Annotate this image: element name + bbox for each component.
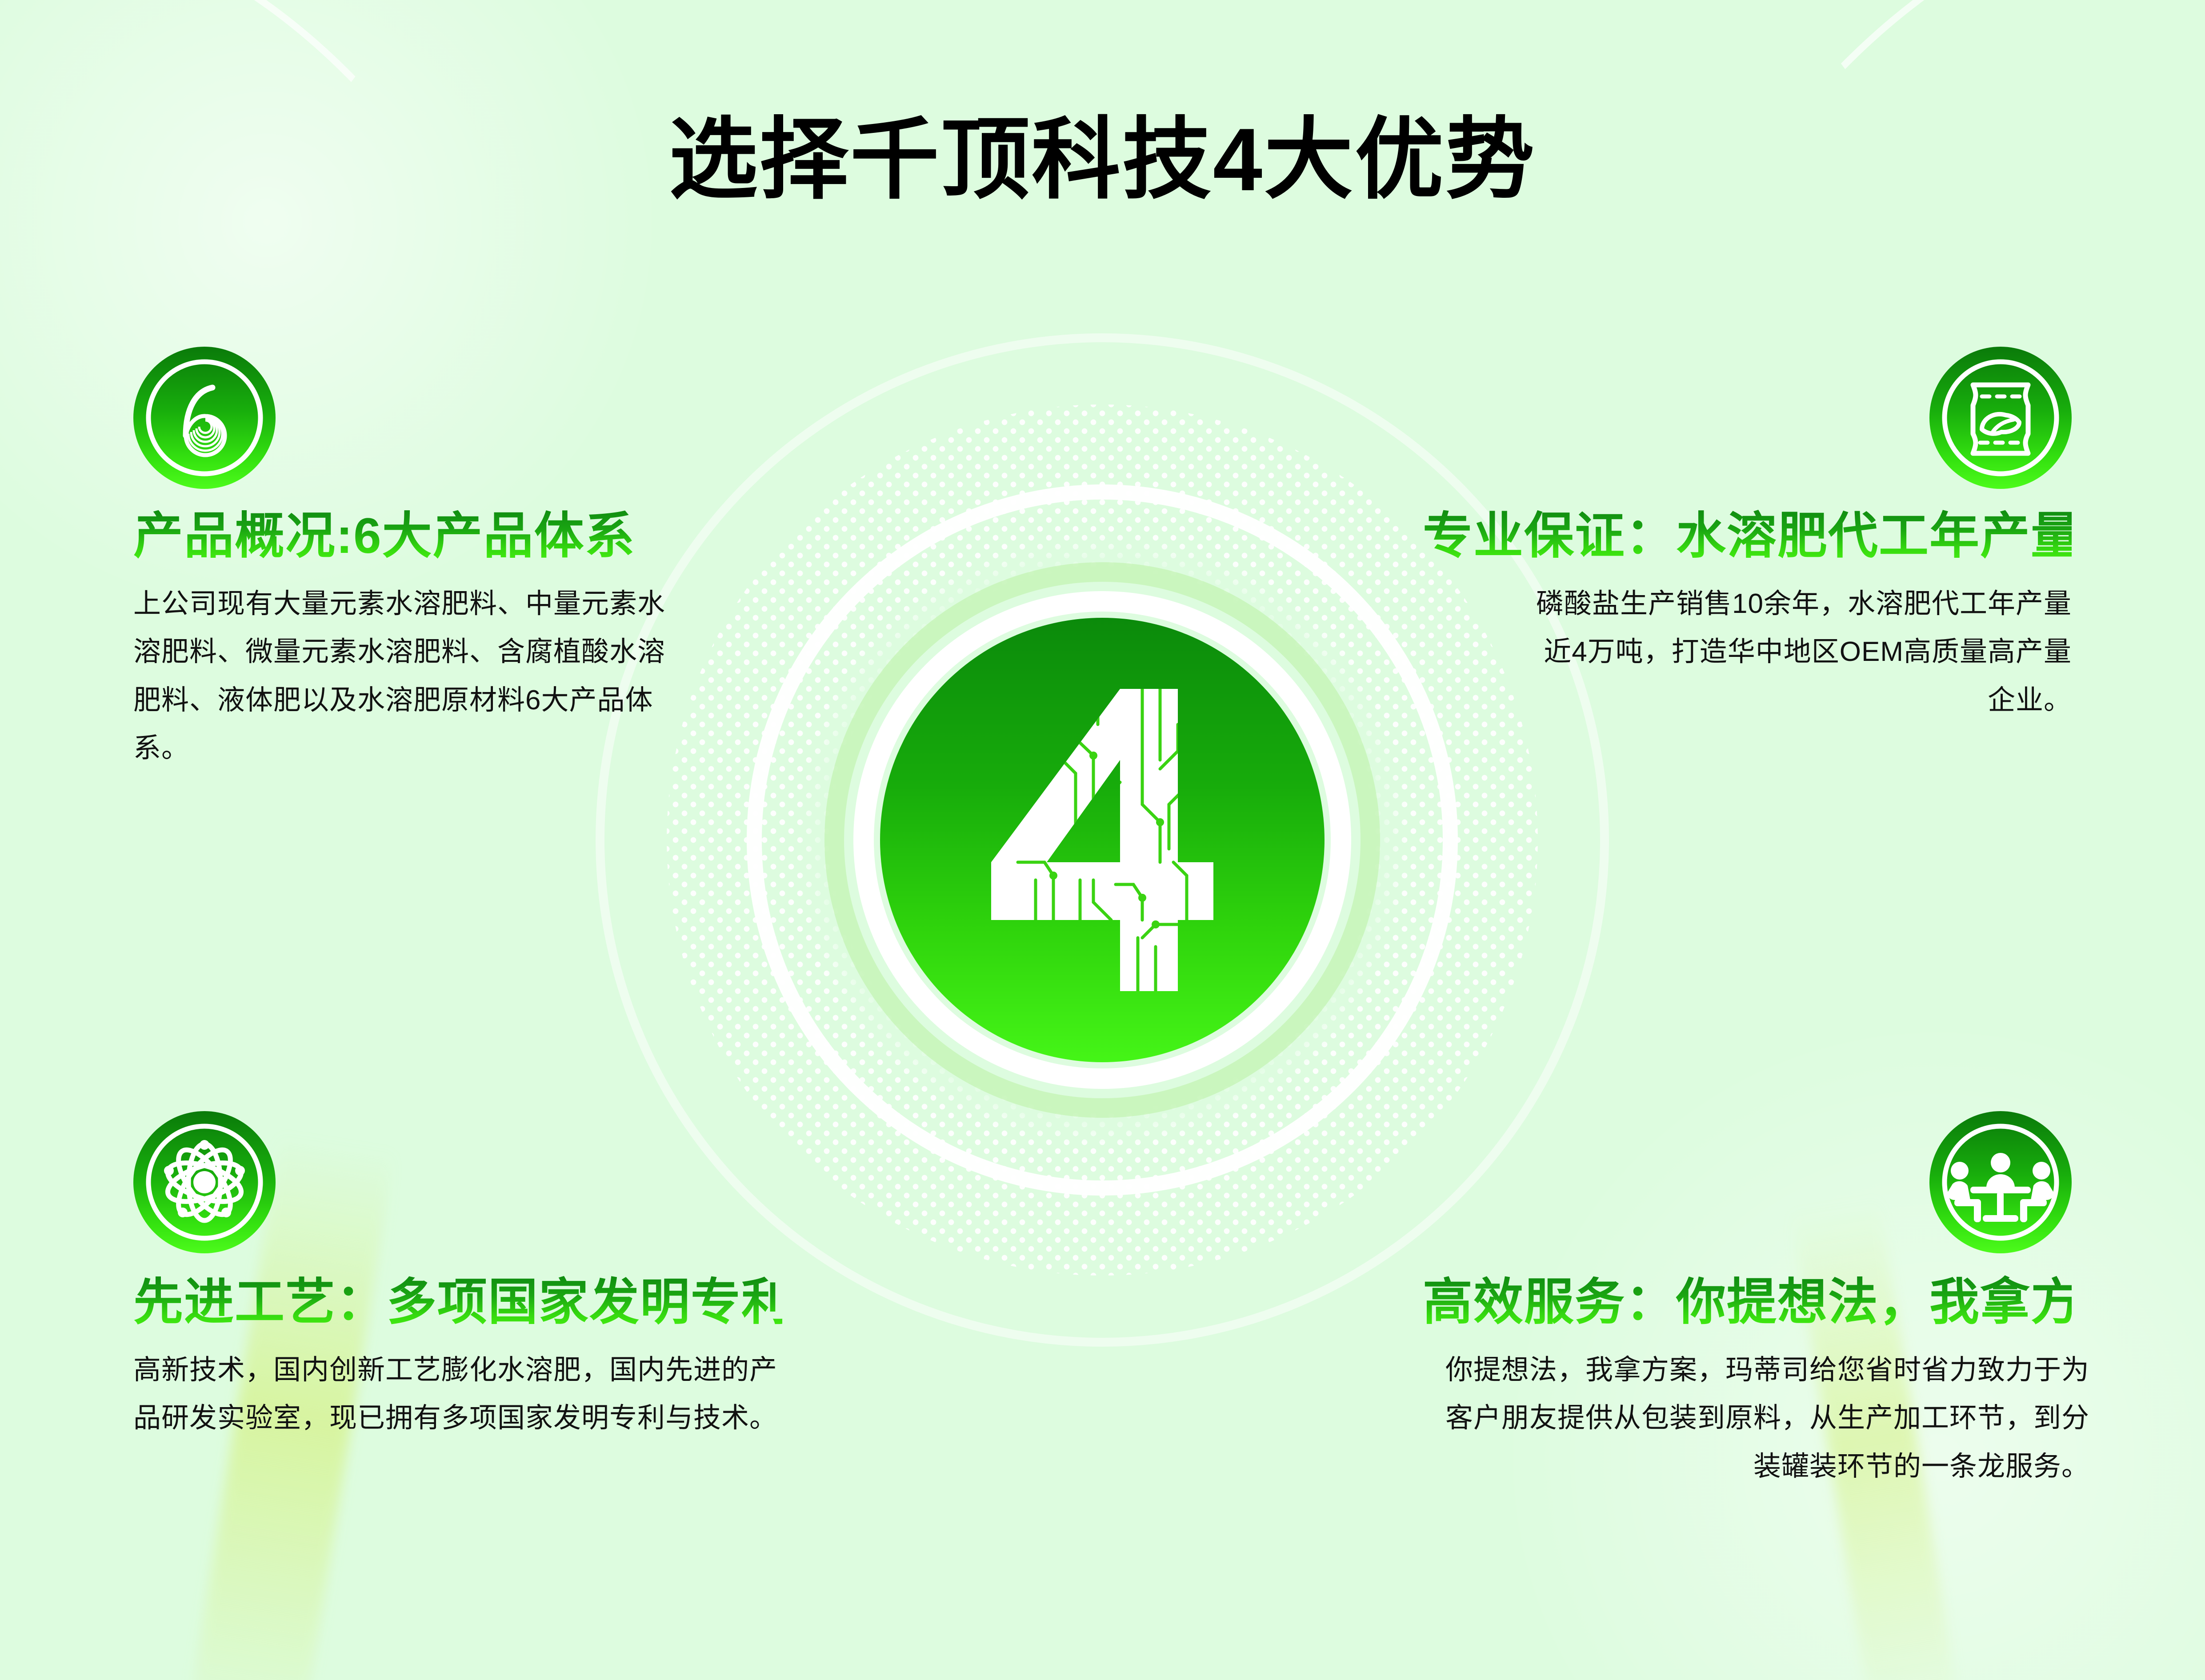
fertilizer-bag-icon [1929,347,2072,489]
feature-block-bottom-left: 先进工艺：多项国家发明专利 高新技术，国内创新工艺膨化水溶肥，国内先进的产品研发… [133,1111,782,1443]
feature-description-bottom-right: 你提想法，我拿方案，玛蒂司给您省时省力致力于为客户朋友提供从包装到原料，从生产加… [1423,1346,2089,1491]
center-number-disc [880,618,1325,1062]
atom-icon [133,1111,276,1253]
atom-glyph-icon [133,1111,276,1253]
feature-title-bottom-right: 高效服务：你提想法，我拿方案 [1423,1274,2072,1331]
feature-block-top-left: 产品概况:6大产品体系 上公司现有大量元素水溶肥料、中量元素水溶肥料、微量元素水… [133,347,782,773]
meeting-people-icon [1929,1111,2072,1253]
feature-description-bottom-left: 高新技术，国内创新工艺膨化水溶肥，国内先进的产品研发实验室，现已拥有多项国家发明… [133,1346,782,1443]
bag-glyph-icon [1929,347,2072,489]
feature-title-top-right: 专业保证：水溶肥代工年产量近4万吨 [1423,508,2072,565]
page-title: 选择千顶科技4大优势 [669,87,1536,216]
feature-block-bottom-right: 高效服务：你提想法，我拿方案 你提想法，我拿方案，玛蒂司给您省时省力致力于为客户… [1423,1111,2072,1491]
feature-description-top-right: 磷酸盐生产销售10余年，水溶肥代工年产量近4万吨，打造华中地区OEM高质量高产量… [1525,580,2072,725]
people-table-glyph-icon [1929,1111,2072,1253]
center-number-four-icon [964,671,1240,1009]
feature-title-bottom-left: 先进工艺：多项国家发明专利 [133,1274,782,1331]
number-six-circle-icon [133,347,276,489]
six-glyph-icon [133,347,276,489]
feature-block-top-right: 专业保证：水溶肥代工年产量近4万吨 磷酸盐生产销售10余年，水溶肥代工年产量近4… [1423,347,2072,724]
feature-title-top-left: 产品概况:6大产品体系 [133,508,782,565]
feature-description-top-left: 上公司现有大量元素水溶肥料、中量元素水溶肥料、微量元素水溶肥料、含腐植酸水溶肥料… [133,580,680,773]
